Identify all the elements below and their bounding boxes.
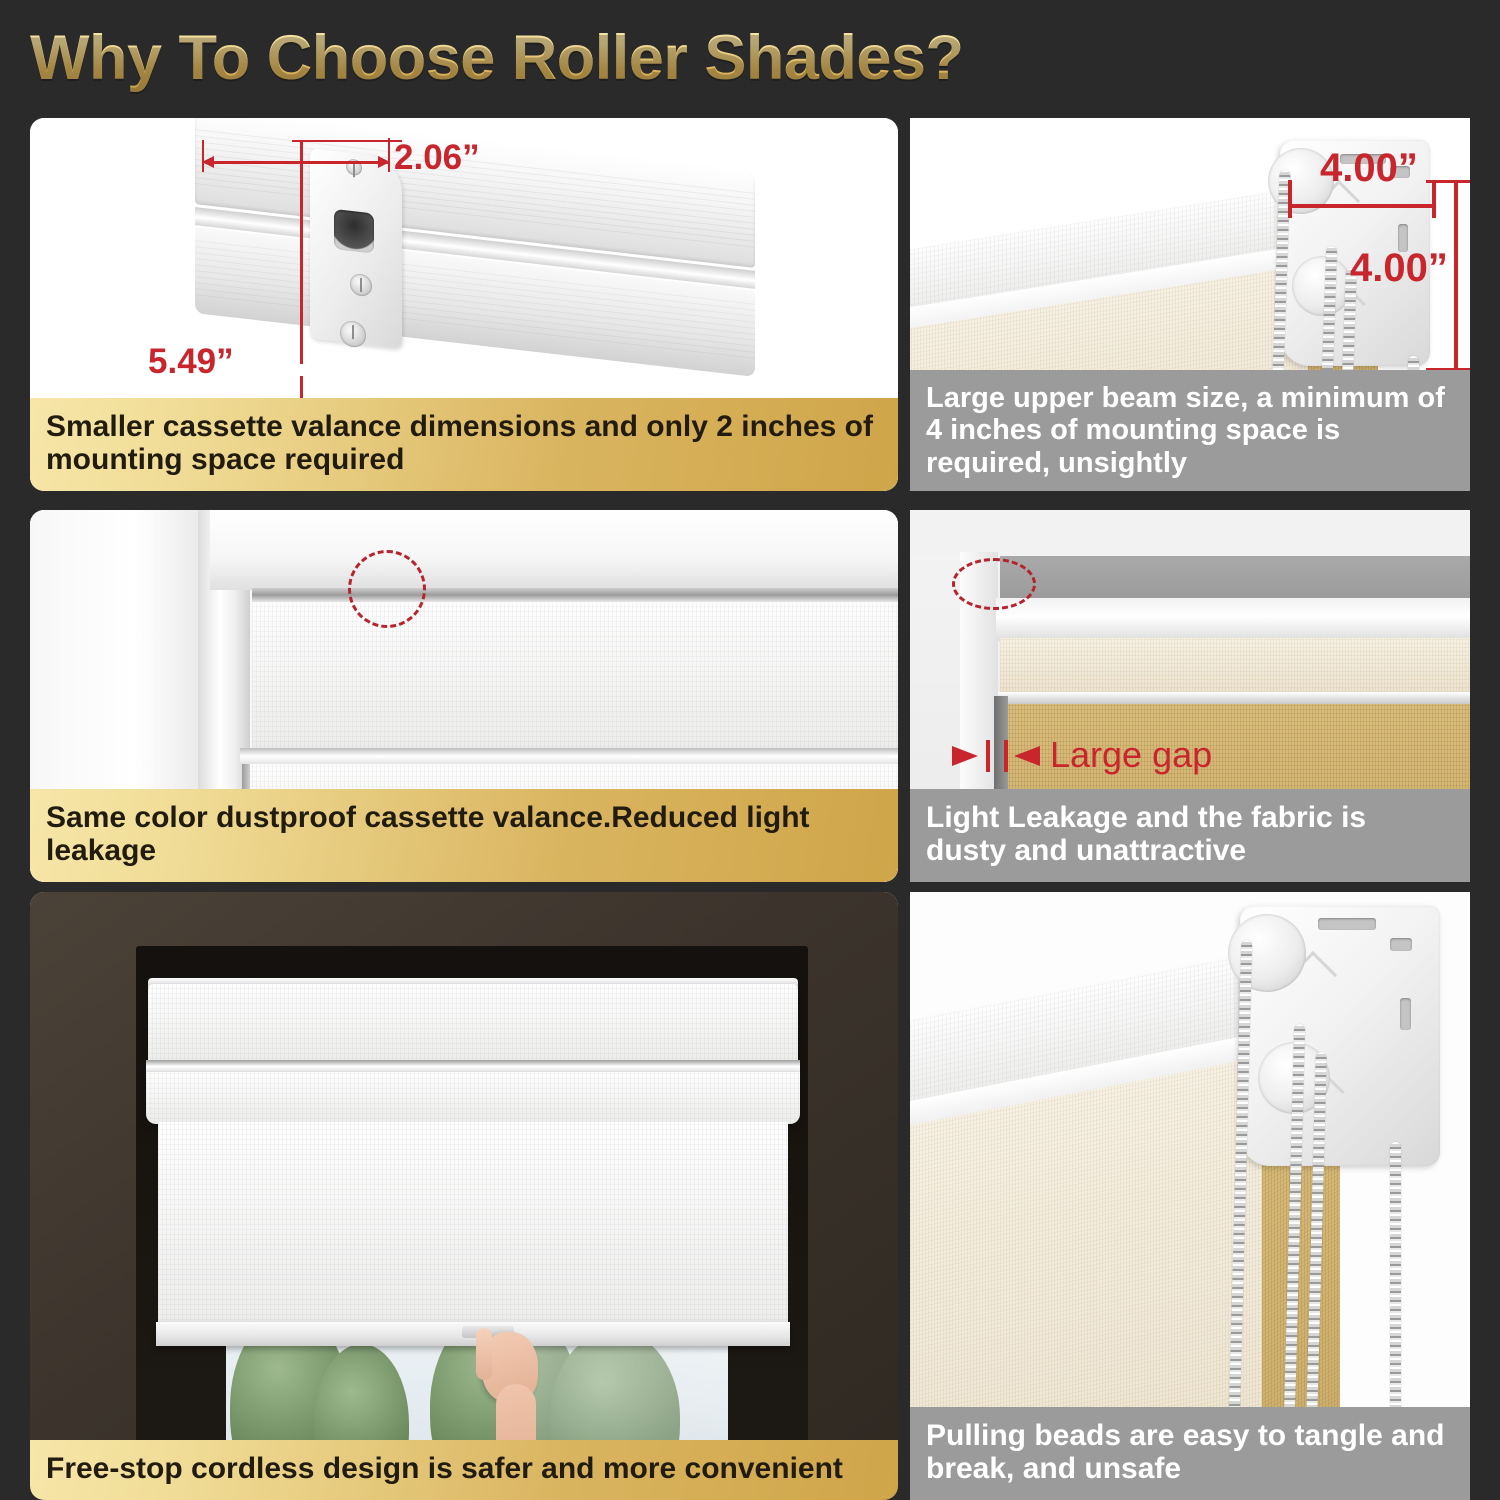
valance-bottom-edge xyxy=(998,692,1470,704)
beam-width-label: 4.00” xyxy=(1320,146,1418,191)
panel-5-caption: Free-stop cordless design is safer and m… xyxy=(30,1440,898,1500)
panel-6-caption: Pulling beads are easy to tangle and bre… xyxy=(910,1407,1470,1500)
free-stop-slot-icon xyxy=(334,209,374,254)
gap-tick-a xyxy=(986,740,990,772)
bracket-notch-icon xyxy=(1400,998,1411,1030)
panel-cordless-design: Free-stop cordless design is safer and m… xyxy=(30,892,898,1500)
cassette-valance xyxy=(148,984,798,1064)
panel-1-caption: Smaller cassette valance dimensions and … xyxy=(30,398,898,491)
beam-width-tick-left xyxy=(1288,180,1292,218)
width-extension-line-right xyxy=(388,138,390,172)
gap-tick-b xyxy=(1004,740,1008,772)
gap-highlight-circle xyxy=(952,558,1036,610)
large-gap-label: Large gap xyxy=(1050,734,1212,776)
width-extension-line-left xyxy=(202,140,204,172)
beam-height-label: 4.00” xyxy=(1350,246,1448,291)
valance-end-cap xyxy=(310,148,402,348)
width-dimension-label: 2.06” xyxy=(394,138,480,178)
height-extension-top xyxy=(292,140,402,142)
panel-smaller-cassette: 2.06” 5.49” Smaller cassette valance dim… xyxy=(30,118,898,491)
panel-5-photo xyxy=(30,892,898,1500)
panel-4-caption: Light Leakage and the fabric is dusty an… xyxy=(910,789,1470,882)
screw-icon xyxy=(350,273,372,298)
beam-height-tick-top xyxy=(1426,180,1470,183)
panel-dustproof-valance: smaller gap Same color dustproof cassett… xyxy=(30,510,898,882)
height-dimension-label: 5.49” xyxy=(148,342,234,382)
bracket-notch-icon xyxy=(1318,918,1376,930)
panel-2-caption: Large upper beam size, a minimum of 4 in… xyxy=(910,370,1470,491)
panel-3-caption: Same color dustproof cassette valance.Re… xyxy=(30,789,898,882)
finger xyxy=(476,1328,492,1380)
beam-width-line xyxy=(1290,204,1436,208)
panel-pulling-beads: Pulling beads are easy to tangle and bre… xyxy=(910,892,1470,1500)
valance-fabric xyxy=(1000,638,1470,696)
gap-highlight-circle xyxy=(348,550,426,628)
gap-arrow-right xyxy=(1014,746,1040,766)
wall-背-surface xyxy=(910,510,1470,556)
beam-width-tick-right xyxy=(1432,180,1436,218)
height-dimension-line xyxy=(300,140,303,364)
shade-fabric xyxy=(158,1122,788,1330)
roller-end-cap-lower xyxy=(1292,256,1352,316)
comparison-grid: 2.06” 5.49” Smaller cassette valance dim… xyxy=(0,118,1500,1500)
valance-fabric-upper xyxy=(252,602,898,752)
page-title: Why To Choose Roller Shades? xyxy=(30,22,963,94)
width-dimension-line xyxy=(205,161,390,164)
valance-lower-lip xyxy=(146,1072,800,1124)
window-frame-top xyxy=(210,510,898,590)
gap-arrow-left xyxy=(952,746,978,766)
screw-icon xyxy=(340,320,366,349)
shadow-band xyxy=(1000,556,1470,600)
panel-light-leakage: Large gap Light Leakage and the fabric i… xyxy=(910,510,1470,882)
bracket-notch-icon xyxy=(1390,938,1412,951)
panel-large-beam: 4.00” 4.00” Large upper beam size, a min… xyxy=(910,118,1470,491)
beam-height-line xyxy=(1454,180,1458,370)
